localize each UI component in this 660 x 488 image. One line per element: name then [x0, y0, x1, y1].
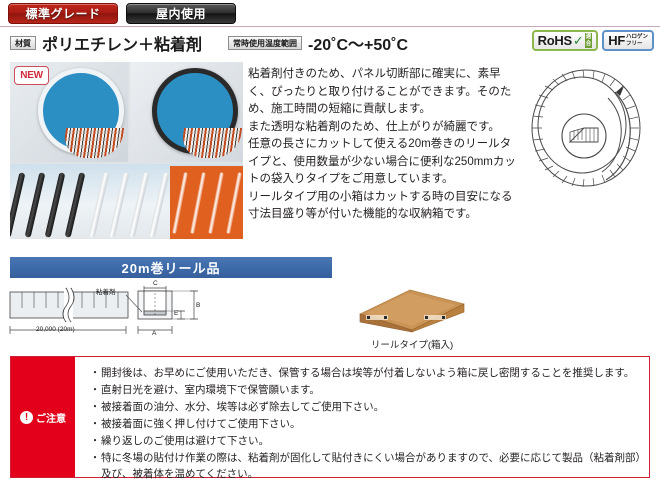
caution-item: ・ 被接着面に強く押し付けてご使用下さい。 [89, 416, 641, 432]
rohs-badge-sub: 適 合 [585, 33, 593, 48]
dimension-adhesive-label: 粘着剤 [96, 286, 116, 296]
new-badge: NEW [14, 66, 49, 85]
description-paragraph-1: 粘着剤付きのため、パネル切断部に確実に、素早く、ぴったりと取り付けることができま… [248, 66, 516, 119]
product-spec-page: 標準グレード 屋内使用 材質 ポリエチレン＋粘着剤 常時使用温度範囲 -20˚C… [0, 0, 660, 488]
caution-list: ・ 開封後は、お早めにご使用いただき、保管する場合は埃等が付着しないよう箱に戻し… [75, 357, 649, 477]
section-banner-20m-reel: 20m巻リール品 [10, 257, 332, 278]
caution-item-text: 開封後は、お早めにご使用いただき、保管する場合は埃等が付着しないよう箱に戻し密閉… [101, 365, 641, 381]
caution-item: ・ 繰り返しのご使用は避けて下さい。 [89, 433, 641, 449]
dimension-e-label: E [174, 310, 178, 317]
caution-item-text: 繰り返しのご使用は避けて下さい。 [101, 433, 641, 449]
dimension-b-label: B [196, 302, 200, 309]
white-profile-4 [149, 172, 170, 238]
caution-bullet-icon: ・ [89, 382, 101, 398]
tab-standard-grade-label: 標準グレード [25, 5, 100, 22]
caution-item-text: 被接着面の油分、水分、埃等は必ず除去してご使用下さい。 [101, 399, 641, 415]
rohs-badge: RoHS ✓ 適 合 [532, 30, 599, 51]
dimension-c-label: C [153, 280, 158, 287]
tab-standard-grade[interactable]: 標準グレード [8, 3, 118, 24]
clear-profile-3 [208, 172, 224, 234]
reel-illustration [520, 62, 654, 202]
material-value: ポリエチレン＋粘着剤 [42, 31, 202, 55]
clear-profile-4 [226, 172, 242, 234]
description-paragraph-2: また透明な粘着剤のため、仕上がりが綺麗です。 [248, 119, 516, 137]
reel-coil-icon [520, 62, 654, 202]
clear-profile-2 [190, 172, 206, 234]
dimension-length-label: 20,000 (20m) [36, 326, 75, 333]
dimension-drawing: 20,000 (20m) 粘着剤 A B C E [8, 286, 248, 348]
caution-bullet-icon: ・ [89, 416, 101, 432]
caution-item: ・ 直射日光を避け、室内環境下で保管願います。 [89, 382, 641, 398]
caution-bullet-icon: ・ [89, 365, 101, 381]
reel-box-caption: リールタイプ(箱入) [352, 337, 472, 351]
cardboard-box-icon [352, 288, 472, 334]
grade-tab-row: 標準グレード 屋内使用 [8, 3, 236, 24]
description-paragraph-3: 任意の長さにカットして使える20m巻きのリールタイプと、使用数量が少ない場合に便… [248, 136, 516, 189]
reel-box-photo [352, 288, 472, 334]
tab-indoor-use[interactable]: 屋内使用 [126, 3, 236, 24]
black-profile-3 [45, 172, 66, 238]
product-description: 粘着剤付きのため、パネル切断部に確実に、素早く、ぴったりと取り付けることができま… [248, 66, 516, 224]
tab-indoor-use-label: 屋内使用 [156, 5, 206, 22]
caution-item: ・ 特に冬場の貼付け作業の際は、粘着剤が固化して貼付きにくい場合がありますので、… [89, 450, 641, 482]
header-divider [0, 26, 660, 27]
caution-item-text: 被接着面に強く押し付けてご使用下さい。 [101, 416, 641, 432]
hf-badge-sub: ハロゲン フリー [625, 34, 648, 47]
caution-item: ・ 開封後は、お早めにご使用いただき、保管する場合は埃等が付着しないよう箱に戻し… [89, 365, 641, 381]
photo-trim-profiles [10, 164, 243, 239]
hf-badge-label: HF [608, 33, 625, 48]
black-profile-2 [25, 172, 46, 238]
product-photo-collage: NEW [10, 62, 243, 239]
hf-sub-line1: ハロゲン [626, 34, 648, 40]
white-trim-strip-fan [62, 128, 124, 158]
clear-profile-1 [172, 172, 188, 234]
photo-black-edge-trim [130, 62, 243, 162]
caution-bullet-icon: ・ [89, 433, 101, 449]
compliance-badges: RoHS ✓ 適 合 HF ハロゲン フリー [532, 30, 654, 51]
halogen-free-badge: HF ハロゲン フリー [602, 30, 654, 51]
temperature-range-value: -20˚C～+50˚C [308, 31, 408, 55]
black-profile-4 [65, 172, 86, 238]
spec-row: 材質 ポリエチレン＋粘着剤 常時使用温度範囲 -20˚C～+50˚C [10, 31, 408, 55]
caution-item: ・ 被接着面の油分、水分、埃等は必ず除去してご使用下さい。 [89, 399, 641, 415]
caution-item-text: 直射日光を避け、室内環境下で保管願います。 [101, 382, 641, 398]
description-paragraph-4: リールタイプ用の小箱はカットする時の目安になる寸法目盛り等が付いた機能的な収納箱… [248, 189, 516, 224]
rohs-badge-label: RoHS [538, 33, 572, 48]
white-profile-3 [129, 172, 150, 238]
caution-bullet-icon: ・ [89, 399, 101, 415]
rohs-sub-line1: 適 [586, 34, 592, 40]
hf-sub-line2: フリー [626, 41, 643, 47]
exclamation-icon: ! [20, 411, 33, 424]
temperature-range-chip: 常時使用温度範囲 [228, 36, 302, 50]
caution-heading: ご注意 [36, 410, 66, 425]
caution-header: ! ご注意 [11, 357, 75, 477]
photo-clear-trim-orange-panel [170, 166, 243, 239]
check-icon: ✓ [573, 33, 584, 49]
caution-item-text: 特に冬場の貼付け作業の際は、粘着剤が固化して貼付きにくい場合がありますので、必要… [101, 450, 641, 482]
caution-bullet-icon: ・ [89, 450, 101, 482]
caution-panel: ! ご注意 ・ 開封後は、お早めにご使用いただき、保管する場合は埃等が付着しない… [10, 356, 650, 478]
section-banner-label: 20m巻リール品 [121, 258, 220, 277]
black-profile-1 [10, 172, 25, 238]
white-profile-1 [89, 172, 110, 238]
dimension-drawing-svg [8, 286, 248, 348]
rohs-sub-line2: 合 [586, 41, 592, 47]
material-chip: 材質 [10, 36, 36, 50]
dimension-a-label: A [152, 330, 156, 337]
white-profile-2 [109, 172, 130, 238]
